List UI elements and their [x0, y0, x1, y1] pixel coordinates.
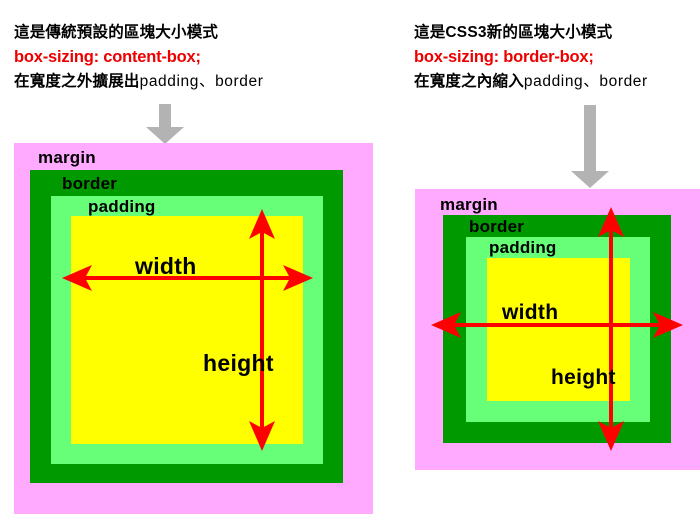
- height-arrow-border-box: [598, 207, 624, 451]
- height-label-border-box: height: [551, 366, 616, 390]
- measure-arrows-border-box: [0, 0, 700, 514]
- width-label-border-box: width: [502, 301, 558, 325]
